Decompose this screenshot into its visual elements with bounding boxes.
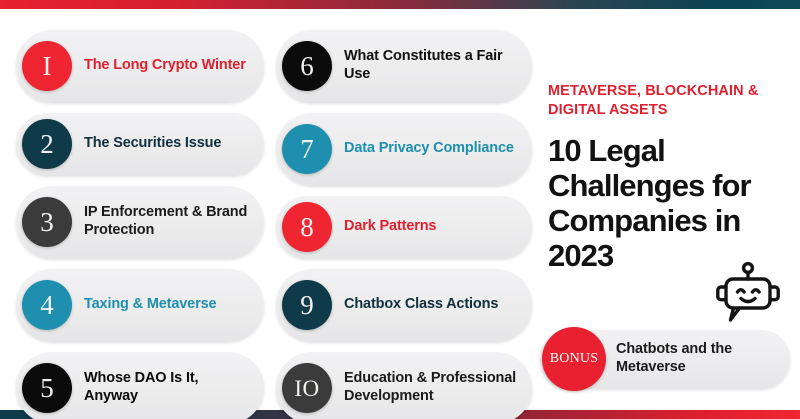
challenge-item-8[interactable]: 8 Dark Patterns [276,196,532,258]
top-gradient-band [0,0,800,9]
challenge-label-8: Dark Patterns [344,218,436,236]
challenge-number-badge-4: 4 [22,280,72,330]
challenge-item-7[interactable]: 7 Data Privacy Compliance [276,113,532,185]
challenge-number-badge-7: 7 [282,124,332,174]
challenge-label-4: Taxing & Metaverse [84,296,216,314]
bonus-badge: BONUS [542,327,606,391]
challenge-label-6: What Constitutes a Fair Use [344,48,520,83]
kicker-text: METAVERSE, BLOCKCHAIN & DIGITAL ASSETS [548,82,792,119]
challenge-number-badge-8: 8 [282,202,332,252]
challenge-number-badge-2: 2 [22,119,72,169]
challenge-number-badge-10: IO [282,363,332,413]
challenge-item-1[interactable]: I The Long Crypto Winter [16,30,264,102]
challenge-label-7: Data Privacy Compliance [344,140,514,158]
bonus-item[interactable]: BONUS Chatbots and the Metaverse [540,330,790,388]
challenge-item-5[interactable]: 5 Whose DAO Is It, Anyway [16,352,264,419]
challenge-item-2[interactable]: 2 The Securities Issue [16,113,264,175]
challenge-label-2: The Securities Issue [84,135,221,153]
challenge-item-10[interactable]: IO Education & Professional Development [276,352,532,419]
challenge-label-9: Chatbox Class Actions [344,296,498,314]
challenge-item-9[interactable]: 9 Chatbox Class Actions [276,269,532,341]
challenge-item-6[interactable]: 6 What Constitutes a Fair Use [276,30,532,102]
bonus-label: Chatbots and the Metaverse [616,341,780,376]
challenge-number-badge-3: 3 [22,197,72,247]
challenge-label-5: Whose DAO Is It, Anyway [84,370,252,405]
robot-icon [712,262,784,324]
challenge-label-10: Education & Professional Development [344,370,520,405]
challenge-number-badge-1: I [22,41,72,91]
challenge-number-badge-9: 9 [282,280,332,330]
left-challenge-column: I The Long Crypto Winter 2 The Securitie… [16,30,264,419]
infographic-canvas: I The Long Crypto Winter 2 The Securitie… [0,0,800,419]
challenge-label-1: The Long Crypto Winter [84,57,246,75]
challenge-number-badge-5: 5 [22,363,72,413]
challenge-number-badge-6: 6 [282,41,332,91]
page-title: 10 Legal Challenges for Companies in 202… [548,133,792,273]
challenge-item-4[interactable]: 4 Taxing & Metaverse [16,269,264,341]
challenge-item-3[interactable]: 3 IP Enforcement & Brand Protection [16,186,264,258]
middle-challenge-column: 6 What Constitutes a Fair Use 7 Data Pri… [276,30,532,419]
challenge-label-3: IP Enforcement & Brand Protection [84,204,252,239]
title-block: METAVERSE, BLOCKCHAIN & DIGITAL ASSETS 1… [548,82,792,273]
